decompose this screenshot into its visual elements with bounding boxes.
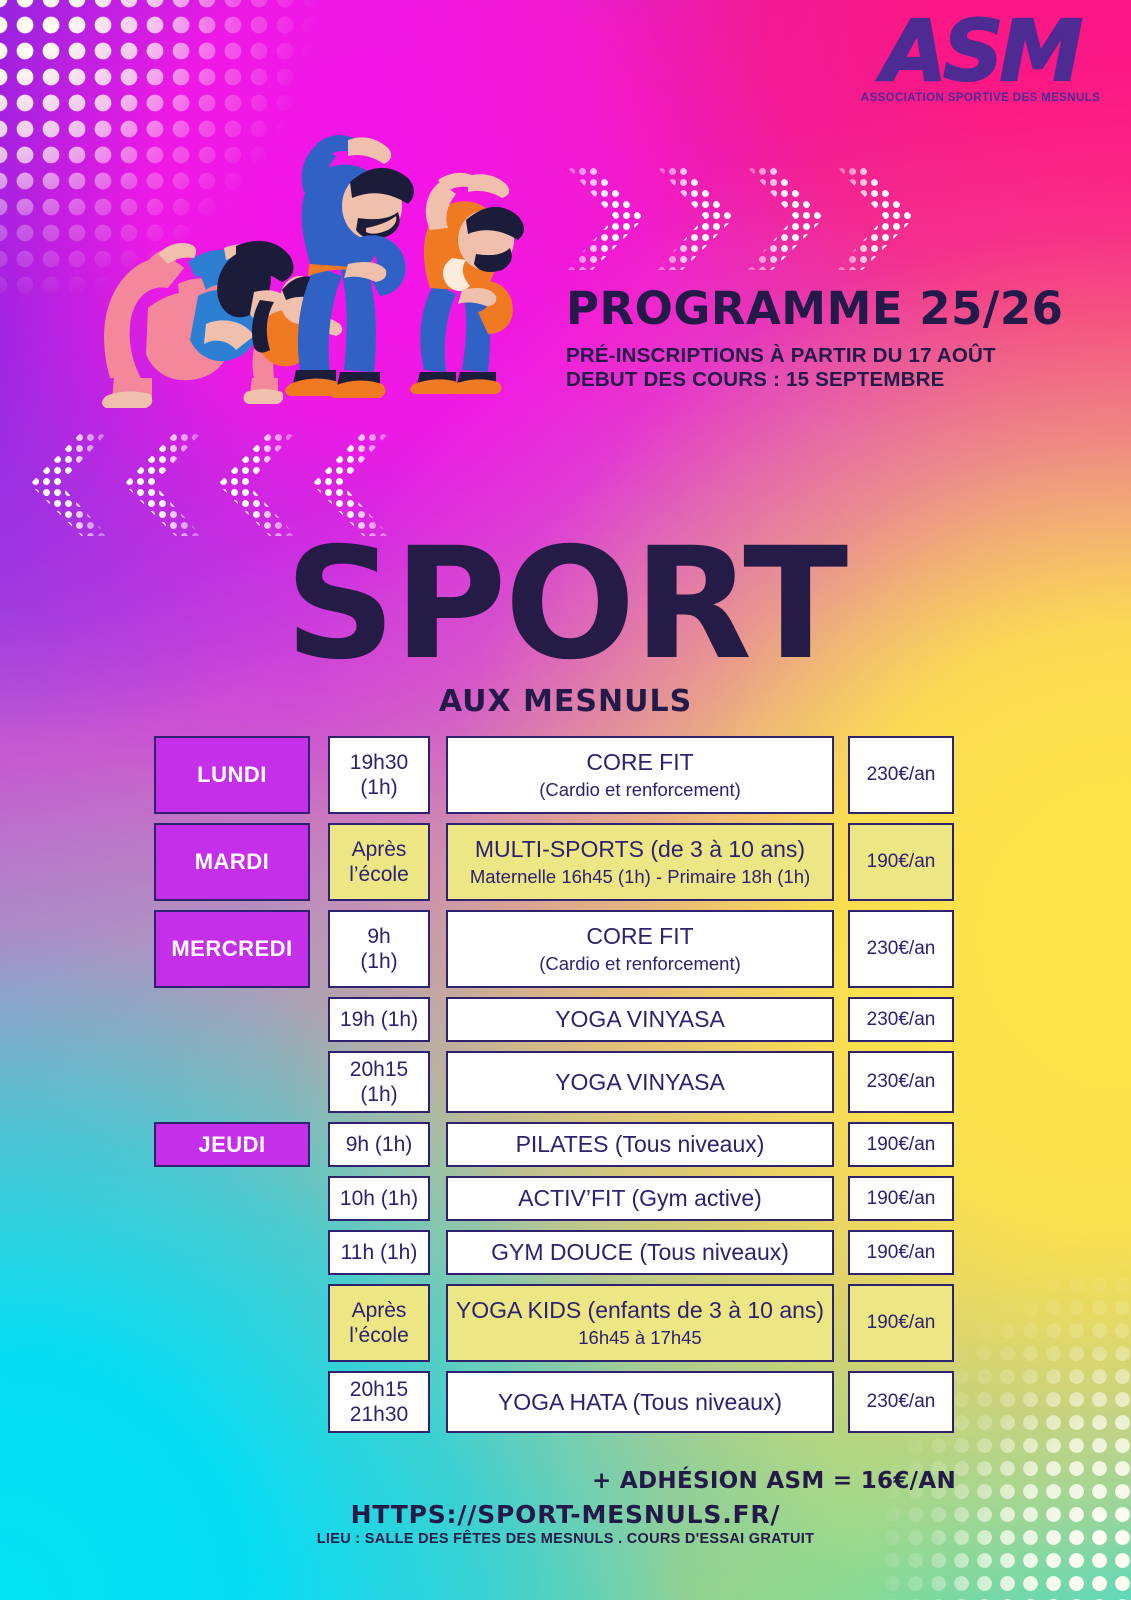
day-badge-mardi: MARDI [154,823,310,901]
people-stretching-illustration [48,78,528,423]
website-url[interactable]: HTTPS://SPORT-MESNULS.FR/ [0,1500,1131,1529]
schedule-row: 19h (1h)YOGA VINYASA230€/an [154,997,956,1042]
price-cell: 230€/an [848,1051,954,1113]
day-badge-empty [154,1176,310,1221]
course-cell: PILATES (Tous niveaux) [446,1122,834,1167]
time-line-2: l’école [349,1324,409,1347]
price-cell: 190€/an [848,1284,954,1362]
time-line-2: (1h) [360,950,397,973]
course-name: PILATES (Tous niveaux) [516,1130,765,1159]
course-name: YOGA KIDS (enfants de 3 à 10 ans) [456,1296,824,1325]
schedule-row: JEUDI9h (1h)PILATES (Tous niveaux)190€/a… [154,1122,956,1167]
time-line-1: Après [352,838,407,861]
time-line-1: 10h (1h) [340,1186,418,1211]
price-cell: 190€/an [848,1122,954,1167]
time-line-1: 19h30 [350,751,408,774]
schedule-row: LUNDI19h30(1h)CORE FIT(Cardio et renforc… [154,736,956,814]
time-cell: 20h1521h30 [328,1371,430,1433]
time-line-2: l’école [349,863,409,886]
course-name: ACTIV’FIT (Gym active) [518,1184,762,1213]
time-line-1: 9h [367,925,390,948]
time-line-2: 21h30 [350,1403,408,1426]
time-line-1: 20h15 [350,1378,408,1401]
time-line-1: 20h15 [350,1058,408,1081]
price-cell: 190€/an [848,1230,954,1275]
day-badge-jeudi: JEUDI [154,1122,310,1167]
program-title: PROGRAMME 25/26 [566,286,1086,331]
time-line-2: (1h) [360,1083,397,1106]
time-cell: Aprèsl’école [328,823,430,901]
schedule-row: MERCREDI9h(1h)CORE FIT(Cardio et renforc… [154,910,956,988]
program-header-block: PROGRAMME 25/26 PRÉ-INSCRIPTIONS À PARTI… [566,286,1086,392]
day-badge-empty [154,997,310,1042]
time-cell: Aprèsl’école [328,1284,430,1362]
course-cell: MULTI-SPORTS (de 3 à 10 ans)Maternelle 1… [446,823,834,901]
venue-note: LIEU : SALLE DES FÊTES DES MESNULS . COU… [0,1531,1131,1547]
price-cell: 190€/an [848,1176,954,1221]
time-cell: 11h (1h) [328,1230,430,1275]
schedule-table: LUNDI19h30(1h)CORE FIT(Cardio et renforc… [154,736,956,1442]
asm-logo: ASM ASSOCIATION SPORTIVE DES MESNULS [858,14,1103,104]
time-cell: 19h30(1h) [328,736,430,814]
schedule-row: 10h (1h)ACTIV’FIT (Gym active)190€/an [154,1176,956,1221]
price-cell: 230€/an [848,1371,954,1433]
hero-subtitle: AUX MESNULS [0,684,1131,719]
course-start-line: DEBUT DES COURS : 15 SEPTEMBRE [566,368,1086,392]
time-cell: 10h (1h) [328,1176,430,1221]
time-cell: 20h15(1h) [328,1051,430,1113]
course-cell: YOGA VINYASA [446,997,834,1042]
schedule-row: 20h1521h30YOGA HATA (Tous niveaux)230€/a… [154,1371,956,1433]
time-line-1: Après [352,1299,407,1322]
price-cell: 230€/an [848,910,954,988]
hero-title: SPORT [0,528,1131,682]
day-badge-empty [154,1371,310,1433]
course-cell: ACTIV’FIT (Gym active) [446,1176,834,1221]
time-cell: 9h(1h) [328,910,430,988]
schedule-row: 11h (1h)GYM DOUCE (Tous niveaux)190€/an [154,1230,956,1275]
course-cell: CORE FIT(Cardio et renforcement) [446,736,834,814]
preinscription-line: PRÉ-INSCRIPTIONS À PARTIR DU 17 AOÛT [566,344,1086,368]
day-badge-lundi: LUNDI [154,736,310,814]
time-line-2: (1h) [360,776,397,799]
course-detail: (Cardio et renforcement) [539,952,741,976]
course-name: CORE FIT [539,748,741,777]
time-cell: 19h (1h) [328,997,430,1042]
price-cell: 190€/an [848,823,954,901]
course-name: GYM DOUCE (Tous niveaux) [491,1238,789,1267]
time-cell: 9h (1h) [328,1122,430,1167]
price-cell: 230€/an [848,997,954,1042]
adhesion-note: + ADHÉSION ASM = 16€/AN [592,1468,956,1494]
asm-logo-subtitle: ASSOCIATION SPORTIVE DES MESNULS [858,92,1103,104]
course-cell: CORE FIT(Cardio et renforcement) [446,910,834,988]
course-cell: YOGA HATA (Tous niveaux) [446,1371,834,1433]
day-badge-mercredi: MERCREDI [154,910,310,988]
course-name: YOGA VINYASA [555,1005,725,1034]
time-line-1: 9h (1h) [346,1132,413,1157]
schedule-row: 20h15(1h)YOGA VINYASA230€/an [154,1051,956,1113]
course-detail: (Cardio et renforcement) [539,778,741,802]
course-name: MULTI-SPORTS (de 3 à 10 ans) [470,835,810,864]
course-name: YOGA VINYASA [555,1068,725,1097]
time-line-1: 11h (1h) [341,1240,418,1265]
poster-root: ASM ASSOCIATION SPORTIVE DES MESNULS PRO… [0,0,1131,1600]
course-cell: YOGA KIDS (enfants de 3 à 10 ans)16h45 à… [446,1284,834,1362]
course-cell: YOGA VINYASA [446,1051,834,1113]
course-detail: Maternelle 16h45 (1h) - Primaire 18h (1h… [470,865,810,889]
day-badge-empty [154,1284,310,1362]
course-detail: 16h45 à 17h45 [456,1326,824,1350]
day-badge-empty [154,1051,310,1113]
time-line-1: 19h (1h) [340,1007,418,1032]
schedule-row: MARDIAprèsl’écoleMULTI-SPORTS (de 3 à 10… [154,823,956,901]
course-name: YOGA HATA (Tous niveaux) [498,1388,782,1417]
course-cell: GYM DOUCE (Tous niveaux) [446,1230,834,1275]
day-badge-empty [154,1230,310,1275]
asm-logo-mark: ASM [858,14,1103,90]
course-name: CORE FIT [539,922,741,951]
price-cell: 230€/an [848,736,954,814]
schedule-row: Aprèsl’écoleYOGA KIDS (enfants de 3 à 10… [154,1284,956,1362]
